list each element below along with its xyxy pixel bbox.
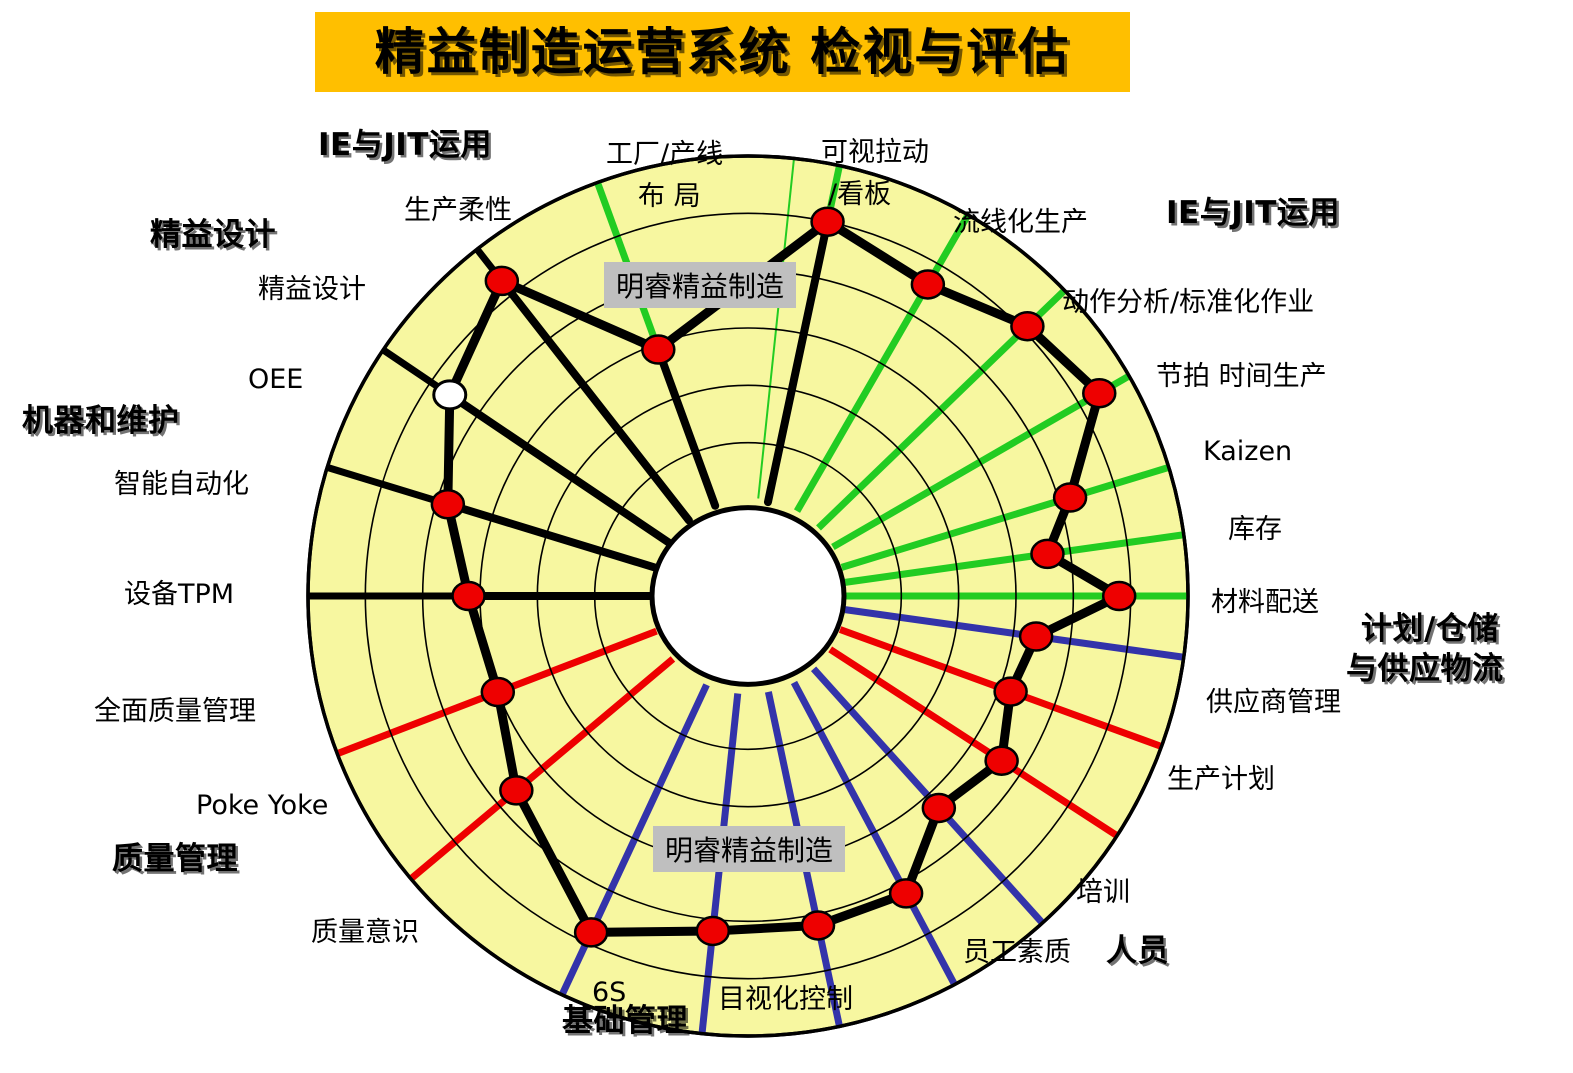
radar-marker-16[interactable] <box>482 678 514 706</box>
radar-center-hole <box>652 508 844 685</box>
axis-label-14: 员工素质 <box>963 938 1071 968</box>
axis-label-6: 动作分析/标准化作业 <box>1062 288 1314 318</box>
axis-label-22: OEE <box>248 365 303 395</box>
radar-marker-9[interactable] <box>986 747 1018 775</box>
axis-label-12: 生产计划 <box>1167 765 1275 795</box>
radar-marker-4[interactable] <box>1054 484 1086 512</box>
group-label-0: 精益设计 <box>150 218 276 253</box>
axis-label-21: 智能自动化 <box>114 470 249 500</box>
chart-canvas: 精益制造运营系统 检视与评估 生产柔性工厂/产线布 局可视拉动/看板流线化生产动… <box>0 0 1573 1073</box>
radar-marker-7[interactable] <box>1020 622 1052 650</box>
radar-marker-15[interactable] <box>500 776 532 804</box>
radar-marker-6[interactable] <box>1103 582 1135 610</box>
axis-label-5: 流线化生产 <box>953 208 1088 238</box>
axis-label-11: 供应商管理 <box>1206 688 1341 718</box>
axis-label-13: 培训 <box>1076 878 1130 908</box>
axis-label-10: 材料配送 <box>1211 588 1319 618</box>
watermark-0: 明睿精益制造 <box>604 262 796 308</box>
group-label-6: 基础管理 <box>562 1004 688 1039</box>
axis-label-20: 设备TPM <box>124 580 234 610</box>
group-label-1: IE与JIT运用 <box>318 128 492 163</box>
axis-label-3: 可视拉动 <box>821 138 929 168</box>
radar-marker-20[interactable] <box>486 267 518 295</box>
radar-marker-14[interactable] <box>575 918 607 946</box>
group-label-8: 机器和维护 <box>22 404 180 439</box>
axis-label-4: /看板 <box>828 180 891 210</box>
radar-marker-18[interactable] <box>432 490 464 518</box>
axis-label-15: 目视化控制 <box>718 985 853 1015</box>
axis-label-1: 工厂/产线 <box>606 140 723 170</box>
radar-marker-19[interactable] <box>434 381 466 409</box>
axis-label-9: 库存 <box>1228 515 1282 545</box>
radar-marker-0[interactable] <box>812 208 844 236</box>
axis-label-23: 精益设计 <box>258 275 366 305</box>
group-label-4: 与供应物流 <box>1346 652 1504 687</box>
radar-marker-1[interactable] <box>912 270 944 298</box>
radar-marker-13[interactable] <box>697 917 729 945</box>
axis-label-18: Poke Yoke <box>196 791 328 821</box>
radar-chart <box>0 0 1573 1073</box>
watermark-1: 明睿精益制造 <box>653 826 845 872</box>
radar-marker-17[interactable] <box>453 582 485 610</box>
axis-label-7: 节拍 时间生产 <box>1156 362 1327 392</box>
group-label-7: 质量管理 <box>112 842 238 877</box>
radar-marker-2[interactable] <box>1011 312 1043 340</box>
radar-marker-11[interactable] <box>890 879 922 907</box>
radar-marker-21[interactable] <box>642 336 674 364</box>
axis-label-19: 全面质量管理 <box>94 697 256 727</box>
group-label-5: 人员 <box>1106 934 1169 969</box>
radar-marker-12[interactable] <box>802 911 834 939</box>
radar-marker-8[interactable] <box>995 678 1027 706</box>
radar-center-hole <box>652 508 844 685</box>
axis-label-17: 质量意识 <box>311 918 419 948</box>
radar-marker-3[interactable] <box>1083 379 1115 407</box>
radar-marker-5[interactable] <box>1031 540 1063 568</box>
radar-marker-10[interactable] <box>923 794 955 822</box>
axis-label-0: 生产柔性 <box>404 196 512 226</box>
group-label-3: 计划/仓储 <box>1361 612 1499 647</box>
axis-label-8: Kaizen <box>1203 437 1292 467</box>
group-label-2: IE与JIT运用 <box>1166 196 1340 231</box>
axis-label-2: 布 局 <box>638 182 701 212</box>
